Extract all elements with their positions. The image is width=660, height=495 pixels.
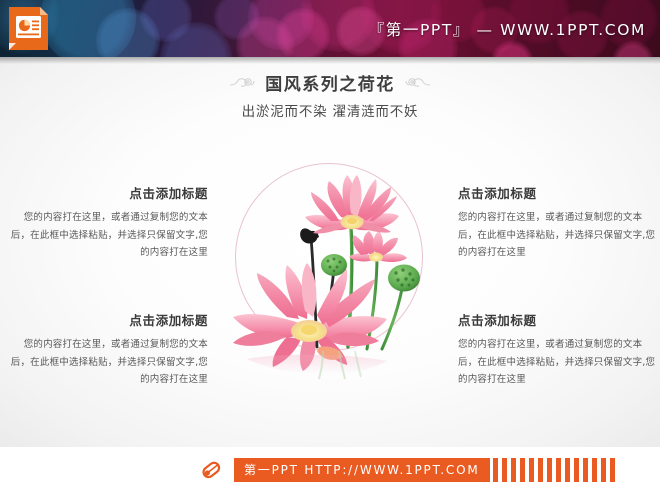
cloud-ornament-icon <box>229 76 255 90</box>
bokeh-circle <box>236 16 294 57</box>
title-block: 国风系列之荷花 出淤泥而不染 濯清涟而不妖 <box>0 70 660 120</box>
header-shadow <box>0 57 660 64</box>
bokeh-circle <box>40 0 136 57</box>
cloud-ornament-icon <box>405 76 431 90</box>
footer-stripe <box>520 458 525 482</box>
bokeh-circle <box>160 22 232 57</box>
footer-stripes <box>493 458 619 482</box>
footer-stripe <box>565 458 570 482</box>
page-subtitle: 出淤泥而不染 濯清涟而不妖 <box>0 100 660 120</box>
footer-stripe <box>529 458 534 482</box>
footer-stripe <box>538 458 543 482</box>
text-block-top-left[interactable]: 点击添加标题 您的内容打在这里，或者通过复制您的文本后，在此框中选择粘贴，并选择… <box>8 183 208 262</box>
text-block-body: 您的内容打在这里，或者通过复制您的文本后，在此框中选择粘贴，并选择只保留文字,您… <box>458 336 658 389</box>
page-title: 国风系列之荷花 <box>265 70 395 95</box>
bokeh-circle <box>490 40 534 57</box>
text-block-title: 点击添加标题 <box>8 310 208 329</box>
footer-stripe <box>547 458 552 482</box>
text-block-title: 点击添加标题 <box>458 310 658 329</box>
footer-stripe <box>511 458 516 482</box>
bokeh-circle <box>276 8 330 57</box>
footer-stripe <box>574 458 579 482</box>
footer-stripe <box>502 458 507 482</box>
header-site-title: 『第一PPT』 — WWW.1PPT.COM <box>369 18 646 40</box>
footer-stripe <box>493 458 498 482</box>
text-block-title: 点击添加标题 <box>8 183 208 202</box>
bokeh-circle <box>612 40 654 57</box>
slide-canvas: 『第一PPT』 — WWW.1PPT.COM 国风系列之荷花 <box>0 0 660 495</box>
footer-bar: 第一PPT HTTP://WWW.1PPT.COM <box>0 447 660 495</box>
text-block-bottom-right[interactable]: 点击添加标题 您的内容打在这里，或者通过复制您的文本后，在此框中选择粘贴，并选择… <box>458 310 658 389</box>
bokeh-circle <box>300 0 376 52</box>
text-block-body: 您的内容打在这里，或者通过复制您的文本后，在此框中选择粘贴，并选择只保留文字,您… <box>458 209 658 262</box>
text-block-title: 点击添加标题 <box>458 183 658 202</box>
lotus-flower-illustration <box>227 151 433 391</box>
pencil-icon <box>198 457 226 483</box>
footer-stripe <box>592 458 597 482</box>
text-block-bottom-left[interactable]: 点击添加标题 您的内容打在这里，或者通过复制您的文本后，在此框中选择粘贴，并选择… <box>8 310 208 389</box>
bokeh-circle <box>214 0 260 40</box>
text-block-body: 您的内容打在这里，或者通过复制您的文本后，在此框中选择粘贴，并选择只保留文字,您… <box>8 209 208 262</box>
powerpoint-logo-icon[interactable] <box>7 5 50 52</box>
lotus-circle-area <box>235 163 425 353</box>
text-block-top-right[interactable]: 点击添加标题 您的内容打在这里，或者通过复制您的文本后，在此框中选择粘贴，并选择… <box>458 183 658 262</box>
footer-stripe <box>610 458 615 482</box>
bokeh-circle <box>96 8 160 57</box>
bokeh-circle <box>140 0 192 42</box>
bokeh-circle <box>248 0 314 50</box>
footer-stripe <box>556 458 561 482</box>
text-block-body: 您的内容打在这里，或者通过复制您的文本后，在此框中选择粘贴，并选择只保留文字,您… <box>8 336 208 389</box>
footer-stripe <box>583 458 588 482</box>
footer-site-text: 第一PPT HTTP://WWW.1PPT.COM <box>234 458 490 482</box>
header-banner: 『第一PPT』 — WWW.1PPT.COM <box>0 0 660 57</box>
footer-stripe <box>601 458 606 482</box>
